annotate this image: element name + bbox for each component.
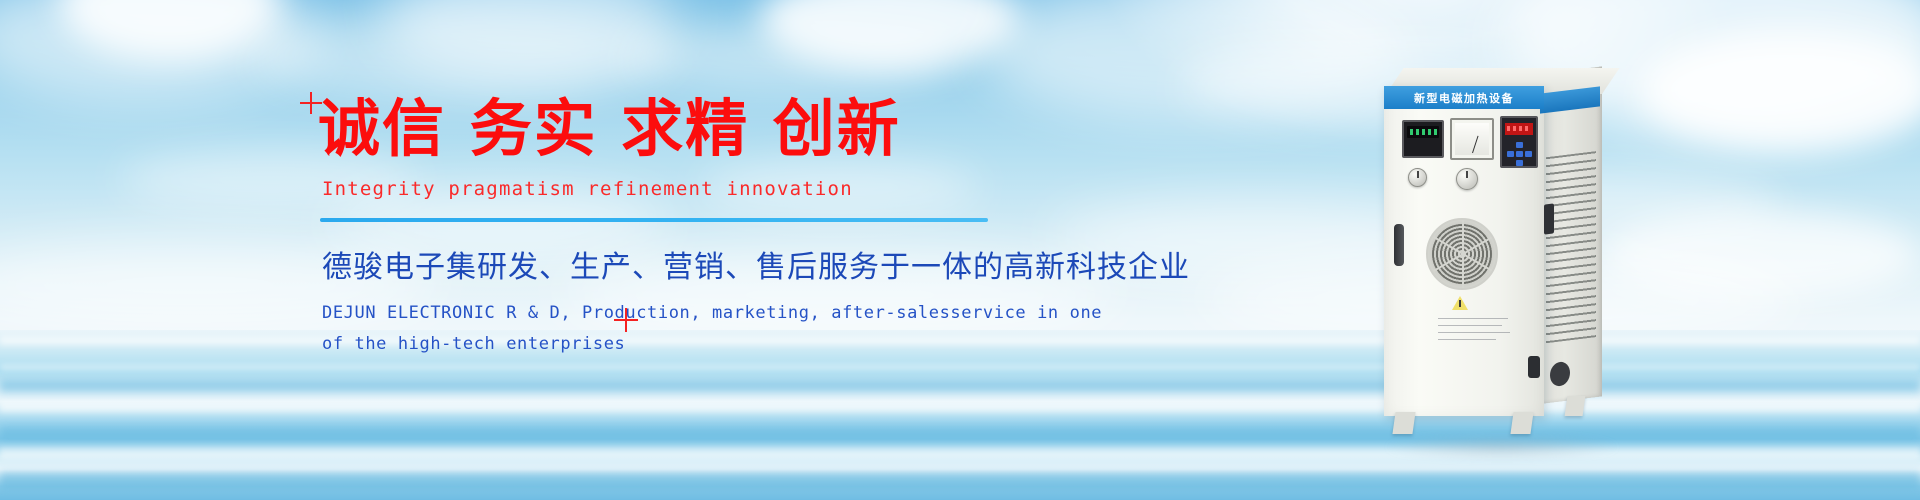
ventilation-grille	[1546, 151, 1596, 343]
machine-label-text: 新型电磁加热设备	[1414, 90, 1514, 106]
cable-port	[1528, 356, 1540, 378]
machine-label: 新型电磁加热设备	[1384, 86, 1544, 109]
induction-heater-machine: 新型电磁加热设备	[1380, 56, 1630, 438]
machine-foot	[1565, 396, 1586, 416]
machine-handle	[1394, 224, 1404, 266]
subtitle-english-line2: of the high-tech enterprises	[322, 329, 1038, 360]
headline-english: Integrity pragmatism refinement innovati…	[322, 178, 1038, 200]
promotional-banner: 诚信 务实 求精 创新 Integrity pragmatism refinem…	[0, 0, 1920, 500]
divider-line	[320, 218, 988, 222]
banner-copy: 诚信 务实 求精 创新 Integrity pragmatism refinem…	[318, 96, 1038, 361]
warning-triangle-icon	[1452, 296, 1468, 310]
machine-side-handle	[1544, 203, 1554, 234]
headline-chinese: 诚信 务实 求精 创新	[318, 96, 1038, 162]
control-knob	[1408, 168, 1427, 187]
subtitle-chinese: 德骏电子集研发、生产、营销、售后服务于一体的高新科技企业	[322, 242, 1038, 286]
subtitle-english-line1: DEJUN ELECTRONIC R & D, Production, mark…	[322, 298, 1038, 329]
machine-foot	[1510, 412, 1533, 434]
digital-temperature-controller	[1402, 120, 1444, 158]
spec-plate	[1438, 318, 1512, 354]
keypad-control-module	[1500, 116, 1538, 168]
control-knob	[1456, 168, 1478, 190]
analog-ammeter-gauge	[1450, 118, 1494, 160]
cooling-fan	[1426, 218, 1498, 290]
machine-side-panel	[1540, 66, 1602, 404]
machine-foot	[1392, 412, 1415, 434]
